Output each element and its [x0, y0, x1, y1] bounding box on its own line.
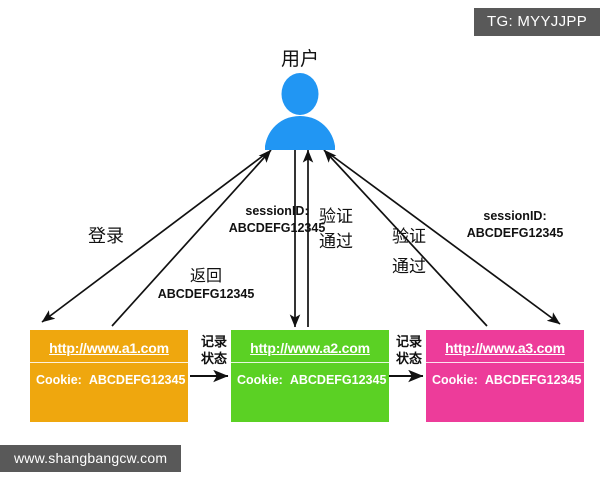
site-box-a1[interactable]: http://www.a1.com Cookie:ABCDEFG12345 [30, 330, 188, 422]
cookie-key: Cookie: [36, 373, 82, 387]
label-return-title: 返回 [152, 267, 260, 286]
label-return-value: ABCDEFG12345 [152, 286, 260, 302]
label-mid-verify: 验证 通过 [313, 204, 359, 254]
cookie-value: ABCDEFG12345 [89, 373, 186, 387]
site-url-a3[interactable]: http://www.a3.com [433, 335, 577, 362]
site-cookie-a1: Cookie:ABCDEFG12345 [36, 363, 182, 397]
user-silhouette-icon [262, 72, 338, 150]
cookie-key: Cookie: [237, 373, 283, 387]
label-record-line2: 状态 [387, 350, 431, 367]
label-record-line1: 记录 [192, 333, 236, 350]
label-right-verify-line1: 验证 [386, 222, 432, 252]
site-box-a3[interactable]: http://www.a3.com Cookie:ABCDEFG12345 [426, 330, 584, 422]
user-label: 用户 [248, 44, 352, 71]
label-right-verify: 验证 通过 [386, 222, 432, 282]
label-login: 登录 [88, 222, 124, 248]
label-record-line1: 记录 [387, 333, 431, 350]
label-record-state-1: 记录 状态 [192, 333, 236, 367]
site-watermark: www.shangbangcw.com [0, 445, 181, 472]
cookie-value: ABCDEFG12345 [485, 373, 582, 387]
site-cookie-a3: Cookie:ABCDEFG12345 [432, 363, 578, 397]
diagram-canvas: 用户 http://www.a1.com Cookie:ABCDEFG12345… [0, 0, 600, 480]
site-url-a2[interactable]: http://www.a2.com [238, 335, 382, 362]
label-right-verify-line2: 通过 [386, 252, 432, 282]
site-url-a1[interactable]: http://www.a1.com [37, 335, 181, 362]
cookie-key: Cookie: [432, 373, 478, 387]
label-right-session: sessionID: ABCDEFG12345 [450, 208, 580, 242]
label-right-session-value: ABCDEFG12345 [450, 225, 580, 242]
label-record-state-2: 记录 状态 [387, 333, 431, 367]
label-mid-verify-line2: 通过 [313, 229, 359, 254]
label-mid-verify-line1: 验证 [313, 204, 359, 229]
label-record-line2: 状态 [192, 350, 236, 367]
site-box-a2[interactable]: http://www.a2.com Cookie:ABCDEFG12345 [231, 330, 389, 422]
cookie-value: ABCDEFG12345 [290, 373, 387, 387]
site-cookie-a2: Cookie:ABCDEFG12345 [237, 363, 383, 397]
tg-badge: TG: MYYJJPP [474, 8, 600, 36]
label-right-session-key: sessionID: [450, 208, 580, 225]
label-return: 返回 ABCDEFG12345 [152, 267, 260, 302]
